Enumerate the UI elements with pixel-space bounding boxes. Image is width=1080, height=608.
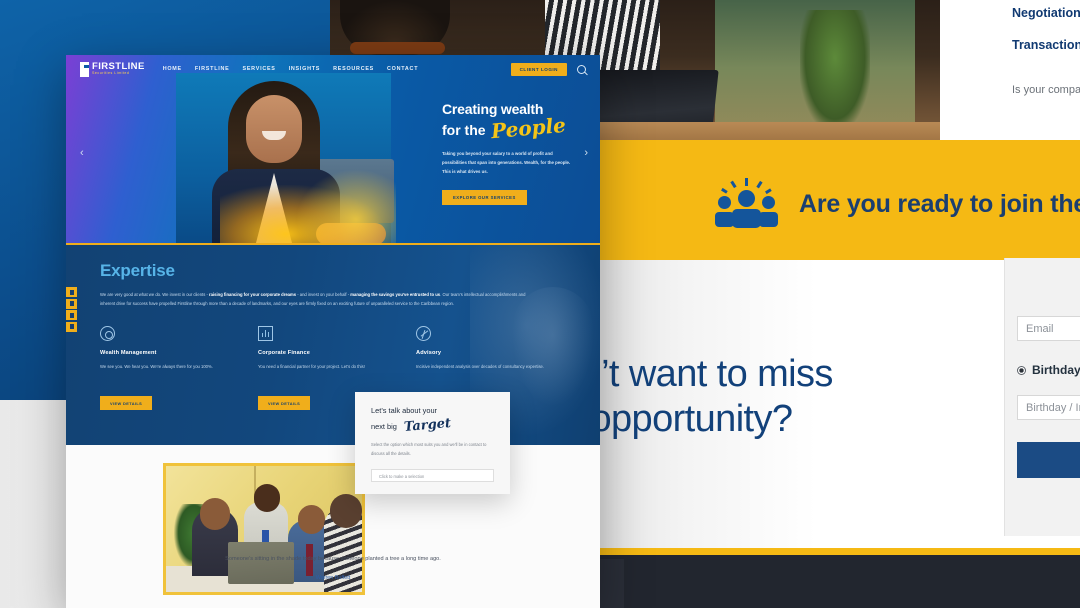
big-question-heading: on’t want to miss n opportunity? <box>560 352 1030 442</box>
topright-link-transaction[interactable]: Transaction <box>1012 38 1080 52</box>
website-preview-card: FIRSTLINE Securities Limited HOME FIRSTL… <box>66 55 600 608</box>
card-title: Corporate Finance <box>258 350 394 356</box>
main-nav: HOME FIRSTLINE SERVICES INSIGHTS RESOURC… <box>163 66 419 72</box>
expertise-section: Expertise We are very good at what we do… <box>66 245 600 445</box>
topright-subtext: Is your compan <box>1012 84 1080 96</box>
hero-headline-script: People <box>490 114 566 140</box>
bar-chart-icon <box>258 326 273 341</box>
client-login-button[interactable]: CLIENT LOGIN <box>511 63 567 76</box>
birthday-radio-label: Birthday <box>1032 363 1080 377</box>
quote-text: Someone’s sitting in the shade today bec… <box>66 555 600 564</box>
target-card-line-2: next big Target <box>371 419 494 433</box>
hero-golden-glow-secondary <box>296 169 396 245</box>
twitter-icon[interactable] <box>66 299 77 309</box>
people-group-icon <box>715 178 777 230</box>
card-title: Wealth Management <box>100 350 236 356</box>
target-card-line-1: Let’s talk about your <box>371 406 494 417</box>
hero-headline-line-1: Creating wealth <box>442 102 592 118</box>
expertise-ghost-figure <box>512 287 594 407</box>
selection-dropdown[interactable]: Click to make a selection <box>371 469 494 482</box>
office-plant <box>800 10 870 130</box>
lower-section: Someone’s sitting in the shade today bec… <box>66 445 600 608</box>
expertise-body-1: We are very good at what we do. We inves… <box>100 292 209 297</box>
hero-portrait-photo <box>176 73 391 245</box>
topright-link-negotiation[interactable]: Negotiation <box>1012 6 1080 20</box>
office-chair-arm <box>350 42 445 54</box>
nav-item-resources[interactable]: RESOURCES <box>333 66 374 72</box>
circle-target-icon <box>100 326 115 341</box>
quote-author[interactable]: Warren Buffett <box>66 575 600 581</box>
target-card-prefix: next big <box>371 422 397 433</box>
expertise-body-bold-2: managing the savings you’ve entrusted to… <box>350 292 440 297</box>
carousel-next-icon[interactable]: › <box>584 147 588 159</box>
quote-block: Someone’s sitting in the shade today bec… <box>66 555 600 581</box>
view-details-button[interactable]: VIEW DETAILS <box>258 396 310 410</box>
topright-link-list: Negotiation Transaction <box>1012 6 1080 70</box>
logo-name: FIRSTLINE <box>92 62 145 72</box>
advisory-badge-icon <box>416 326 431 341</box>
signup-form-card: Email Birthday Birthday / Inc <box>1004 258 1080 536</box>
dark-footer-edge <box>600 559 624 608</box>
social-media-rail <box>66 287 77 333</box>
hero-person-face <box>246 95 302 163</box>
target-card-body: Select the option which most suits you a… <box>371 441 494 457</box>
target-card-script: Target <box>403 417 451 434</box>
email-field[interactable]: Email <box>1017 316 1080 341</box>
logo-subtitle: Securities Limited <box>92 72 145 76</box>
big-question-line-2: n opportunity? <box>560 397 1030 442</box>
hero-copy: Creating wealth for the People Taking yo… <box>442 102 592 205</box>
logo-mark-icon <box>80 62 89 77</box>
yellow-divider-rule <box>600 548 1080 555</box>
hero-yellow-rule <box>66 243 600 245</box>
card-description: We see you. We hear you. We’re always th… <box>100 363 236 382</box>
join-community-text: Are you ready to join the community? <box>799 190 1080 219</box>
card-description: You need a financial partner for your pr… <box>258 363 394 382</box>
hero-headline-line-2: for the People <box>442 118 592 139</box>
dark-footer-band <box>600 555 1080 608</box>
submit-button[interactable] <box>1017 442 1080 478</box>
expertise-card-wealth-management: Wealth Management We see you. We hear yo… <box>100 326 236 411</box>
join-community-row: Are you ready to join the community? <box>715 178 1080 230</box>
hero-headline-prefix: for the <box>442 123 486 139</box>
facebook-icon[interactable] <box>66 287 77 297</box>
birthday-radio-row[interactable]: Birthday <box>1017 363 1080 377</box>
nav-item-contact[interactable]: CONTACT <box>387 66 418 72</box>
nav-item-firstline[interactable]: FIRSTLINE <box>195 66 230 72</box>
carousel-prev-icon[interactable]: ‹ <box>80 147 84 159</box>
radio-icon[interactable] <box>1017 366 1026 375</box>
nav-item-home[interactable]: HOME <box>163 66 182 72</box>
linkedin-icon[interactable] <box>66 310 77 320</box>
expertise-body-bold-1: raising financing for your corporate dre… <box>209 292 296 297</box>
explore-services-button[interactable]: EXPLORE OUR SERVICES <box>442 190 527 205</box>
birthday-field[interactable]: Birthday / Inc <box>1017 395 1080 420</box>
hero-section: FIRSTLINE Securities Limited HOME FIRSTL… <box>66 55 600 245</box>
nav-item-services[interactable]: SERVICES <box>242 66 275 72</box>
instagram-icon[interactable] <box>66 322 77 332</box>
firstline-logo[interactable]: FIRSTLINE Securities Limited <box>80 62 145 77</box>
nav-item-insights[interactable]: INSIGHTS <box>289 66 320 72</box>
search-icon[interactable] <box>577 65 586 74</box>
expertise-body-2: - and invest on your behalf - <box>296 292 350 297</box>
site-navbar: FIRSTLINE Securities Limited HOME FIRSTL… <box>66 55 600 83</box>
hero-body-text: Taking you beyond your salary to a world… <box>442 150 574 176</box>
big-question-line-1: on’t want to miss <box>560 352 1030 397</box>
target-cta-card: Let’s talk about your next big Target Se… <box>355 392 510 494</box>
view-details-button[interactable]: VIEW DETAILS <box>100 396 152 410</box>
